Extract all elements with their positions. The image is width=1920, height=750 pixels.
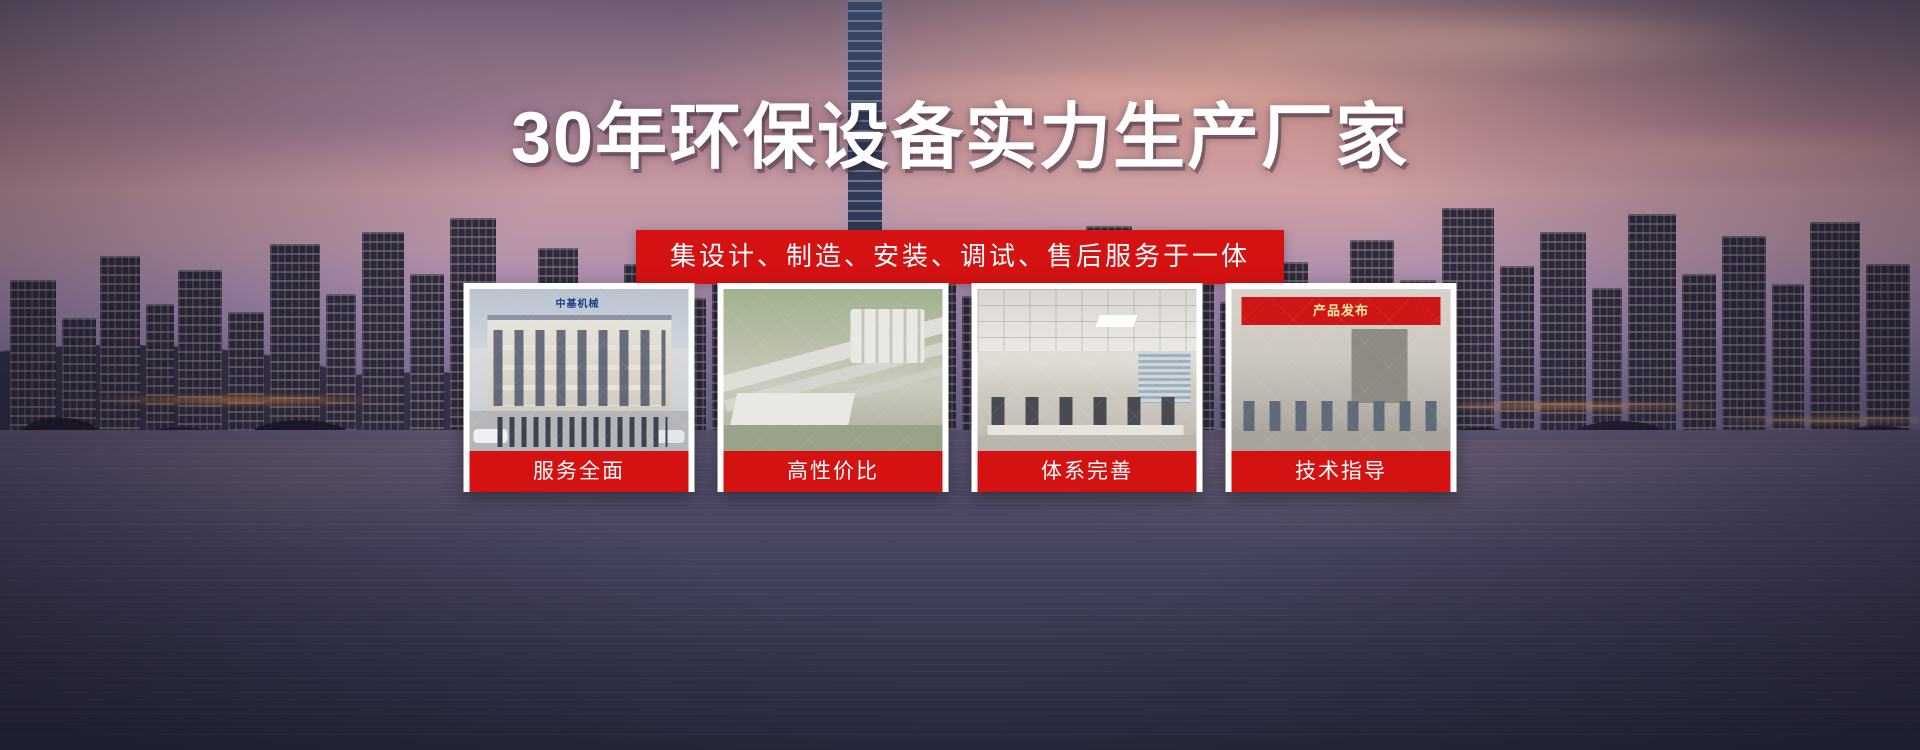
subtitle-badge: 集设计、制造、安装、调试、售后服务于一体 — [636, 230, 1284, 284]
card-label: 服务全面 — [470, 451, 689, 492]
feature-card[interactable]: 体系完善 — [972, 283, 1203, 492]
card-label: 体系完善 — [978, 451, 1197, 492]
feature-card[interactable]: 中基机械 服务全面 — [464, 283, 695, 492]
workshop-banner-text: 产品发布 — [1242, 297, 1441, 325]
card-label: 技术指导 — [1232, 451, 1451, 492]
banner-content: 30年环保设备实力生产厂家 集设计、制造、安装、调试、售后服务于一体 中基机械 … — [0, 0, 1920, 750]
hero-banner: 30年环保设备实力生产厂家 集设计、制造、安装、调试、售后服务于一体 中基机械 … — [0, 0, 1920, 750]
page-title: 30年环保设备实力生产厂家 — [0, 100, 1920, 176]
card-label: 高性价比 — [724, 451, 943, 492]
card-photo-production-plant — [724, 289, 943, 451]
card-photo-company-building: 中基机械 — [470, 289, 689, 451]
card-photo-workshop-staff: 产品发布 — [1232, 289, 1451, 451]
card-photo-office-interior — [978, 289, 1197, 451]
feature-card-list: 中基机械 服务全面 高性价比 — [464, 283, 1457, 492]
feature-card[interactable]: 产品发布 技术指导 — [1226, 283, 1457, 492]
feature-card[interactable]: 高性价比 — [718, 283, 949, 492]
building-sign-text: 中基机械 — [522, 297, 634, 312]
